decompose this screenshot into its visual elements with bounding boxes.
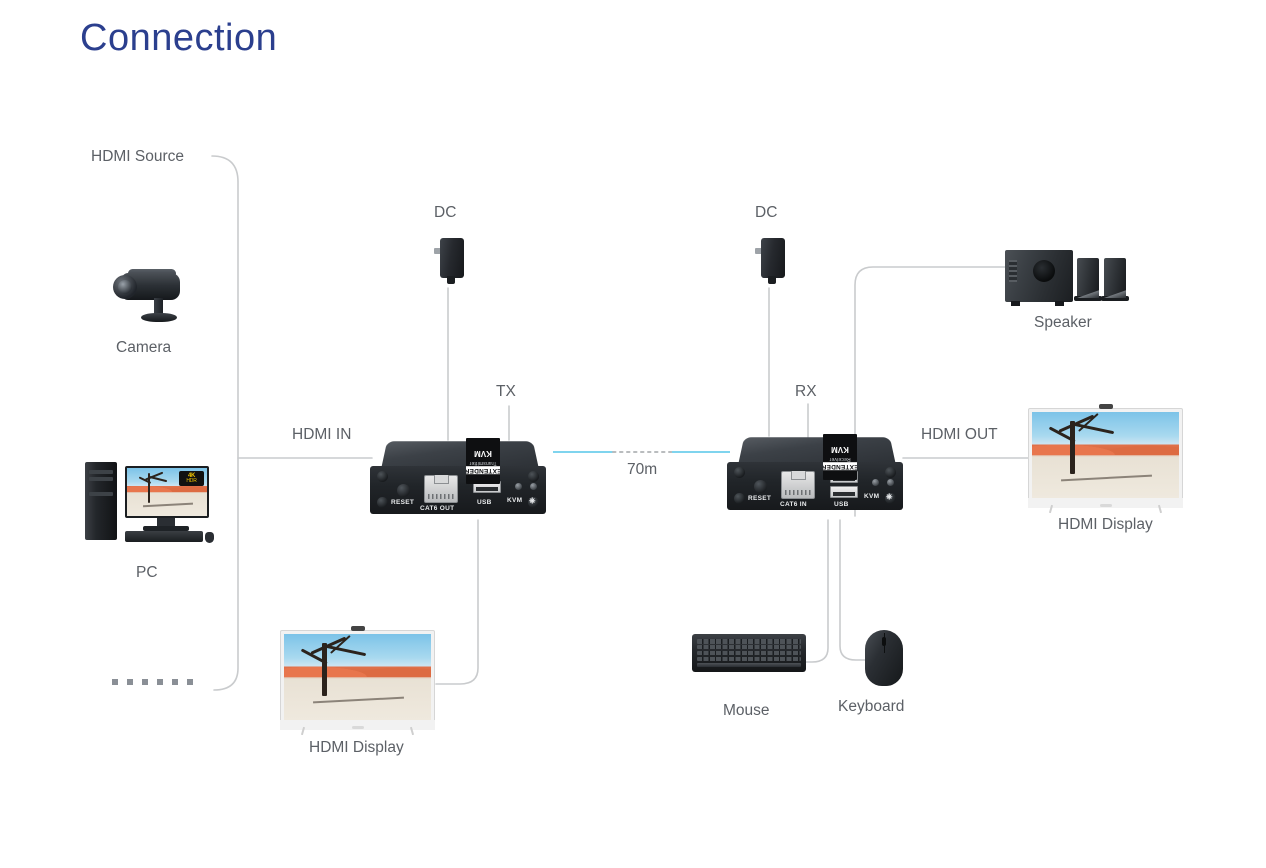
label-dc-tx: DC — [434, 204, 456, 222]
label-hdmi-source: HDMI Source — [91, 148, 184, 166]
camera-device — [108, 265, 192, 327]
tv-right-indicator — [1100, 504, 1112, 507]
rx-reset-button[interactable] — [754, 480, 767, 493]
rx-rj45-port[interactable] — [781, 471, 815, 499]
label-hdmi-in: HDMI IN — [292, 426, 351, 444]
hdmi-display-right — [1028, 408, 1183, 508]
label-pc: PC — [136, 564, 158, 582]
speaker-system — [1005, 250, 1125, 308]
tx-brand-plate: EXTENDER Transmitter KVM — [466, 438, 500, 484]
tx-rj45-label: CAT6 OUT — [420, 505, 454, 512]
tx-screw-tl — [377, 471, 388, 482]
label-speaker: Speaker — [1034, 314, 1092, 332]
pc-monitor: 4K HDR — [125, 466, 209, 518]
tx-front-panel: RESET CAT6 OUT USB KVM ⎈ — [370, 466, 546, 514]
rx-power-icon: ⎈ — [886, 492, 893, 502]
psu-body-tx — [440, 238, 464, 278]
label-tx: TX — [496, 383, 516, 401]
rx-led-kvm — [872, 479, 879, 486]
label-hdmi-display-bottom: HDMI Display — [309, 739, 404, 757]
rx-usb-port-bottom[interactable] — [830, 486, 858, 498]
wire-source-bus — [212, 156, 238, 690]
label-keyboard: Keyboard — [838, 698, 904, 716]
tx-extender[interactable]: RESET CAT6 OUT USB KVM ⎈ EXTENDER Transm… — [370, 434, 546, 522]
rx-rj45-label: CAT6 IN — [780, 501, 807, 508]
psu-tip-tx — [447, 276, 455, 284]
tx-screw-tr — [528, 471, 539, 482]
satellite-speaker-right — [1104, 258, 1126, 298]
label-hdmi-display-right: HDMI Display — [1058, 516, 1153, 534]
pc-tower — [85, 462, 117, 540]
wire-rx-keyboard — [806, 520, 828, 662]
power-adapter-rx — [755, 238, 785, 286]
wire-rx-mouse — [840, 520, 866, 660]
tx-rj45-port[interactable] — [424, 475, 458, 503]
tv-bottom-screen — [284, 634, 431, 720]
tx-led-kvm — [515, 483, 522, 490]
power-adapter-tx — [434, 238, 464, 286]
pc-mouse — [205, 532, 214, 543]
label-hdmi-out: HDMI OUT — [921, 426, 998, 444]
tx-kvm-label: KVM — [507, 497, 522, 504]
tv-bottom-camera-icon — [351, 626, 365, 631]
tx-power-icon: ⎈ — [529, 496, 536, 506]
label-mouse: Mouse — [723, 702, 770, 720]
tx-reset-button[interactable] — [397, 484, 410, 497]
rx-brand-plate: EXTENDER Receiver KVM — [823, 434, 857, 480]
label-distance-70m: 70m — [627, 461, 657, 479]
mouse-scroll-wheel — [882, 637, 886, 646]
tx-reset-label: RESET — [391, 499, 414, 506]
wire-tx-display — [436, 520, 478, 684]
keyboard-device — [692, 634, 806, 672]
psu-tip-rx — [768, 276, 776, 284]
rx-usb-label: USB — [834, 501, 849, 508]
tx-usb-label: USB — [477, 499, 492, 506]
camera-lens — [118, 280, 132, 294]
satellite-speaker-left — [1077, 258, 1099, 298]
more-sources-dots — [112, 679, 193, 685]
psu-body-rx — [761, 238, 785, 278]
tv-right-screen — [1032, 412, 1179, 498]
pc-device: 4K HDR — [85, 460, 215, 550]
rx-led-power — [887, 479, 894, 486]
tx-screw-bl — [377, 497, 388, 508]
label-camera: Camera — [116, 339, 171, 357]
pc-monitor-screen: 4K HDR — [127, 468, 207, 516]
hdmi-display-bottom — [280, 630, 435, 730]
rx-reset-label: RESET — [748, 495, 771, 502]
tv-bottom-indicator — [352, 726, 364, 729]
rx-kvm-label: KVM — [864, 493, 879, 500]
rx-screw-tl — [734, 467, 745, 478]
subwoofer-port — [1033, 260, 1055, 282]
pc-monitor-4k-hdr-badge: 4K HDR — [179, 471, 204, 486]
pc-keyboard — [125, 531, 203, 542]
subwoofer-controls — [1009, 260, 1017, 282]
mouse-device — [865, 630, 903, 686]
camera-mount-base — [141, 313, 177, 322]
tx-led-power — [530, 483, 537, 490]
tv-right-camera-icon — [1099, 404, 1113, 409]
label-rx: RX — [795, 383, 817, 401]
label-dc-rx: DC — [755, 204, 777, 222]
rx-extender[interactable]: RESET CAT6 IN USB KVM ⎈ EXTENDER Receive… — [727, 430, 903, 518]
rx-screw-bl — [734, 493, 745, 504]
rx-front-panel: RESET CAT6 IN USB KVM ⎈ — [727, 462, 903, 510]
rx-screw-tr — [885, 467, 896, 478]
subwoofer — [1005, 250, 1073, 302]
diagram-canvas: Connection — [0, 0, 1266, 868]
